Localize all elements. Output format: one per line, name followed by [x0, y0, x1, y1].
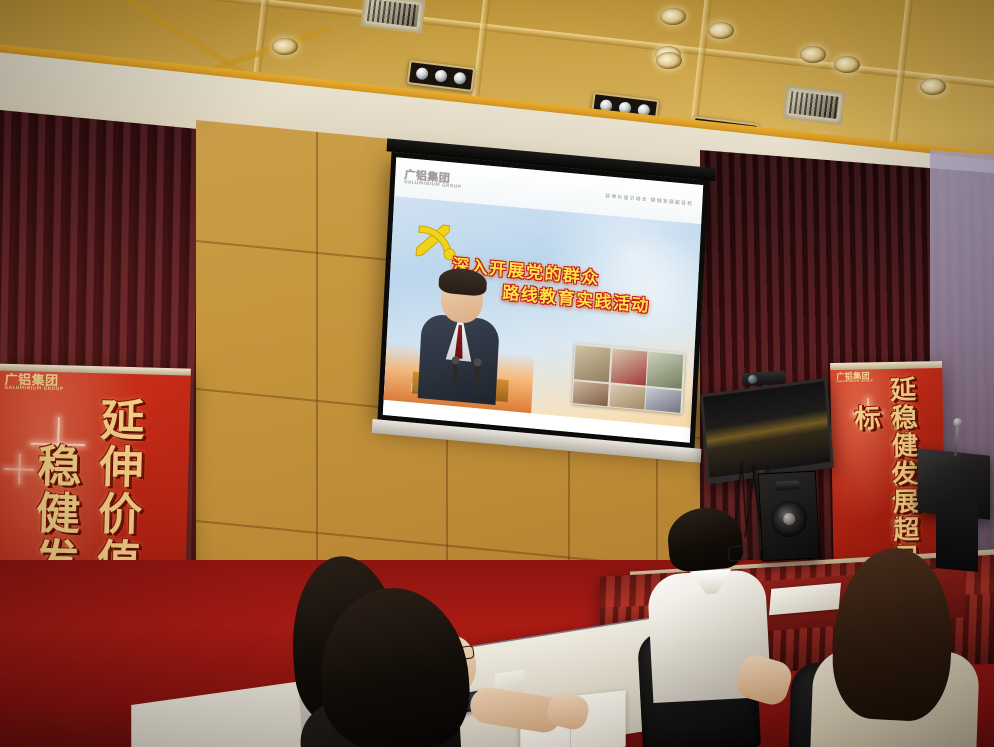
slide-header-tagline: 延伸价值引增长 稳健发展超目标 [605, 192, 693, 207]
recessed-downlight [800, 46, 826, 63]
recessed-downlight [272, 38, 298, 55]
banner-logo-right: 广铝集团 GALUMINIUM GROUP [836, 372, 873, 383]
banner-logo-en: GALUMINIUM GROUP [836, 380, 873, 383]
banner-logo-en: GALUMINIUM GROUP [4, 387, 63, 393]
collage-photo [646, 388, 682, 413]
collage-photo [574, 345, 611, 383]
speaker-portrait [412, 269, 508, 402]
recessed-downlight [660, 8, 686, 25]
projection-screen: 广铝集团 GALUMINIUM GROUP 延伸价值引增长 稳健发展超目标 [378, 152, 709, 448]
presentation-slide: 广铝集团 GALUMINIUM GROUP 延伸价值引增长 稳健发展超目标 [383, 157, 703, 443]
speaker-tweeter [775, 480, 799, 490]
floor-loudspeaker [758, 471, 821, 562]
slide-photo-collage [571, 343, 685, 414]
recessed-downlight [920, 78, 946, 95]
recessed-downlight [708, 22, 734, 39]
lectern-podium-base [936, 498, 978, 572]
collage-photo [647, 351, 684, 389]
speaker-woofer [770, 500, 808, 538]
attendee-3-glasses [727, 545, 748, 562]
banner-top-rail [830, 361, 942, 370]
banner-logo-left: 广铝集团 GALUMINIUM GROUP [4, 374, 64, 393]
collage-photo [611, 348, 648, 386]
slide-company-logo: 广铝集团 GALUMINIUM GROUP [404, 169, 462, 191]
recessed-downlight [656, 52, 682, 69]
recessed-downlight [834, 56, 860, 73]
hvac-vent [782, 84, 846, 125]
collage-photo [573, 381, 609, 406]
collage-photo [609, 384, 645, 409]
slide-body: 深入开展党的群众 路线教育实践活动 [384, 196, 702, 427]
conference-room-photo: 广铝集团 GALUMINIUM GROUP 延伸价值引增长 稳健发展超目标 [0, 0, 994, 747]
